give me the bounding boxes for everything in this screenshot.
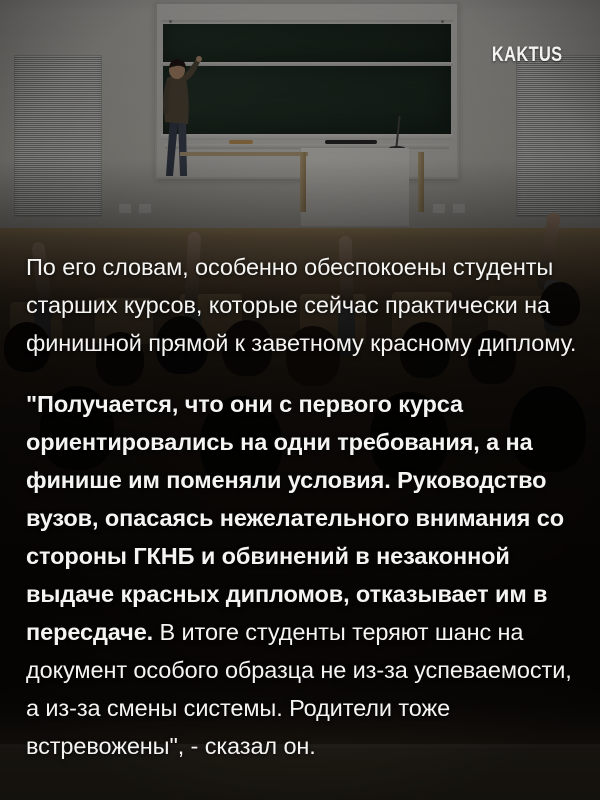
kaktus-logo: KAKTUS [491, 43, 562, 67]
quote-bold-part: "Получается, что они с первого курса ори… [26, 391, 564, 645]
lead-paragraph: По его словам, особенно обеспокоены студ… [26, 248, 578, 362]
news-card: KAKTUS По его словам, особенно обеспокое… [0, 0, 600, 800]
quote-paragraph: "Получается, что они с первого курса ори… [26, 385, 578, 765]
article-text-block: По его словам, особенно обеспокоены студ… [26, 248, 578, 765]
